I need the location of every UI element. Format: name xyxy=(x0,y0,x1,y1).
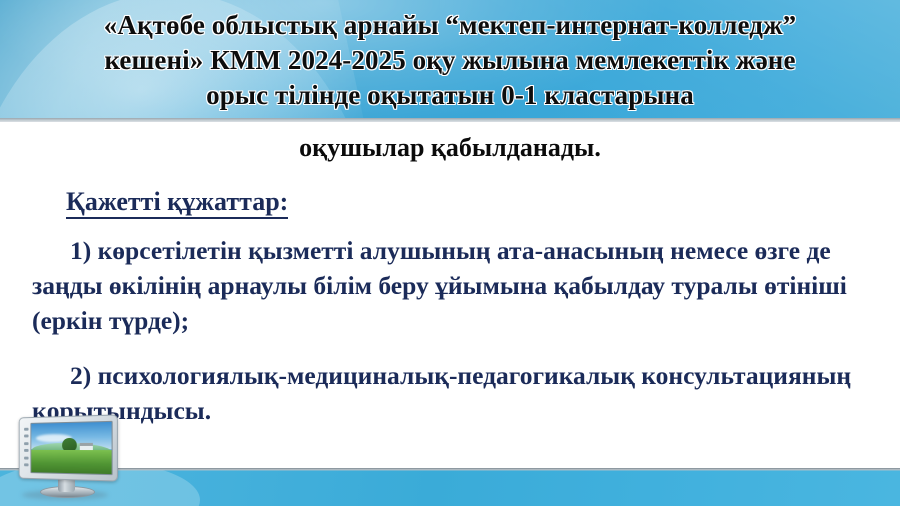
required-documents-heading: Қажетті құжаттар: xyxy=(26,185,874,219)
slide-footer-strip xyxy=(0,468,900,506)
banner-bottom-divider xyxy=(0,118,900,122)
document-item-1: 1) көрсетілетін қызметті алушының ата-ан… xyxy=(26,233,874,338)
monitor-screen-wallpaper xyxy=(30,421,112,475)
slide-header-banner: «Ақтөбе облыстық арнайы “мектеп-интернат… xyxy=(0,0,900,122)
lead-sentence: оқушылар қабылданады. xyxy=(26,131,874,165)
presentation-slide: «Ақтөбе облыстық арнайы “мектеп-интернат… xyxy=(0,0,900,506)
monitor-bezel xyxy=(19,414,118,481)
slide-title-line-2: кешені» КММ 2024-2025 оқу жылына мемлеке… xyxy=(36,43,864,78)
slide-title: «Ақтөбе облыстық арнайы “мектеп-интернат… xyxy=(0,0,900,113)
wallpaper-grass xyxy=(31,450,111,474)
computer-monitor-illustration-icon xyxy=(12,414,120,502)
required-documents-heading-text: Қажетті құжаттар: xyxy=(66,187,288,219)
monitor-side-buttons-icon xyxy=(24,428,28,467)
slide-title-line-3: орыс тілінде оқытатын 0-1 кластарына xyxy=(36,78,864,113)
slide-body: оқушылар қабылданады. Қажетті құжаттар: … xyxy=(0,123,900,468)
slide-title-line-1: «Ақтөбе облыстық арнайы “мектеп-интернат… xyxy=(36,8,864,43)
document-item-2: 2) психологиялық-медициналық-педагогикал… xyxy=(26,358,874,428)
